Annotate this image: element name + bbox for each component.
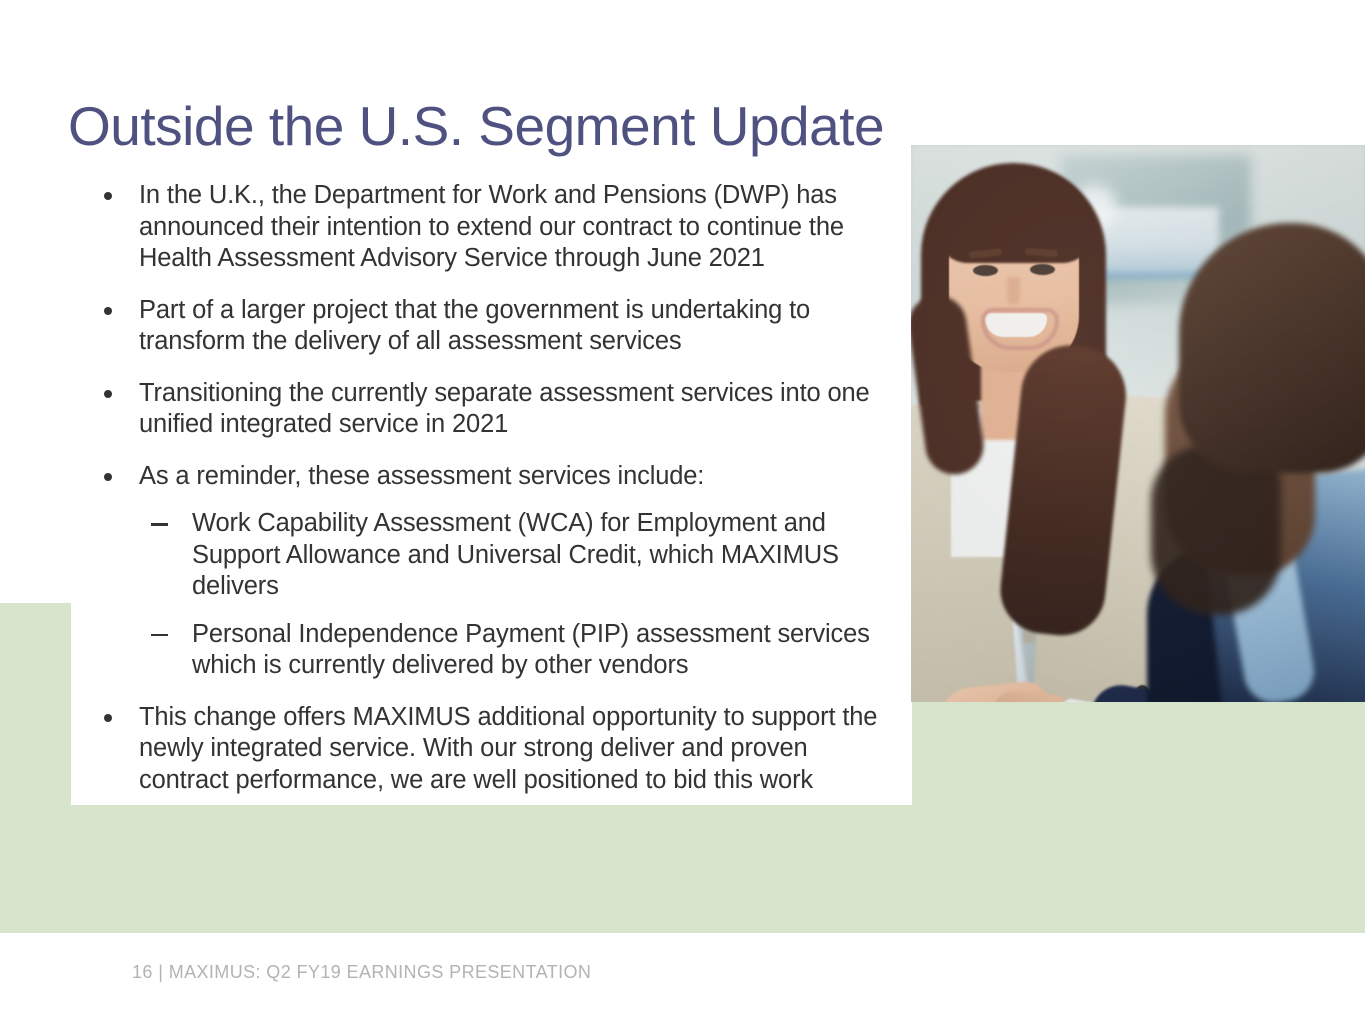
sub-bullet-item-1: Work Capability Assessment (WCA) for Emp… <box>146 508 900 603</box>
bullet-text: As a reminder, these assessment services… <box>139 462 704 490</box>
sub-bullet-text: Personal Independence Payment (PIP) asse… <box>192 620 870 680</box>
photo-vignette <box>911 145 1365 702</box>
bullet-list: In the U.K., the Department for Work and… <box>100 180 900 796</box>
bullet-text: Transitioning the currently separate ass… <box>139 379 870 439</box>
bullet-item-5: This change offers MAXIMUS additional op… <box>100 702 900 797</box>
bullet-text: Part of a larger project that the govern… <box>139 296 810 356</box>
bullet-item-3: Transitioning the currently separate ass… <box>100 378 900 441</box>
bullet-text: In the U.K., the Department for Work and… <box>139 181 844 272</box>
bullet-marker-icon <box>104 714 112 722</box>
bullet-item-2: Part of a larger project that the govern… <box>100 295 900 358</box>
sub-bullet-text: Work Capability Assessment (WCA) for Emp… <box>192 509 839 600</box>
bullet-text: This change offers MAXIMUS additional op… <box>139 703 877 794</box>
business-handshake-photo <box>911 145 1365 702</box>
sub-bullet-list: Work Capability Assessment (WCA) for Emp… <box>139 508 900 682</box>
bullet-marker-icon <box>104 473 112 481</box>
bullet-item-1: In the U.K., the Department for Work and… <box>100 180 900 275</box>
bullet-marker-icon <box>104 192 112 200</box>
slide-footer: 16 | MAXIMUS: Q2 FY19 EARNINGS PRESENTAT… <box>132 962 591 983</box>
bullet-marker-icon <box>104 390 112 398</box>
bullet-marker-icon <box>104 307 112 315</box>
dash-marker-icon <box>151 634 168 637</box>
page-title: Outside the U.S. Segment Update <box>68 99 948 154</box>
dash-marker-icon <box>151 523 168 526</box>
presentation-slide: Outside the U.S. Segment Update In the U… <box>0 0 1365 1024</box>
sub-bullet-item-2: Personal Independence Payment (PIP) asse… <box>146 619 900 682</box>
bullet-item-4: As a reminder, these assessment services… <box>100 461 900 682</box>
